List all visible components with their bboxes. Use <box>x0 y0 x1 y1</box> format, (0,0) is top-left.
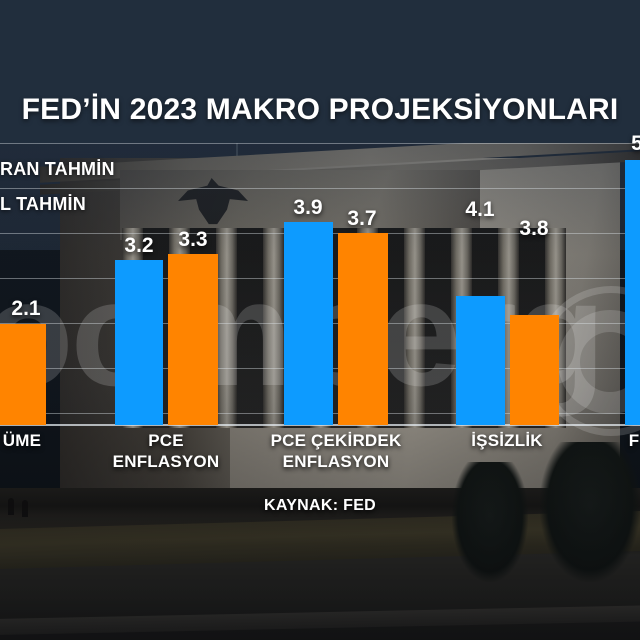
bar-pce-eylul[interactable] <box>168 254 218 425</box>
bar-value-label-buyume-eylul: 2.1 <box>0 297 52 321</box>
bar-issizlik-eylul[interactable] <box>510 315 559 425</box>
bar-value-label-issizlik-haziran: 4.1 <box>454 198 506 222</box>
cat-pce-enflasyon: PCEENFLASYON <box>106 430 226 472</box>
bar-plot-area: 2.13.23.33.93.74.13.85 <box>0 0 640 425</box>
cat-buyume: ÜME <box>0 430 52 451</box>
bar-pce-cekirdek-haziran[interactable] <box>284 222 333 425</box>
chart-panel: oomberg FED’İN 2023 MAKRO PROJEKSİYONLAR… <box>0 0 640 425</box>
bar-value-label-fed-faizi-haziran: 5 <box>624 132 640 156</box>
bar-value-label-issizlik-eylul: 3.8 <box>508 217 560 241</box>
category-axis-labels: ÜMEPCEENFLASYONPCE ÇEKİRDEKENFLASYONİŞSİ… <box>0 430 640 496</box>
cat-issizlik: İŞSİZLİK <box>448 430 566 451</box>
bar-pce-haziran[interactable] <box>115 260 163 425</box>
bar-value-label-pce-haziran: 3.2 <box>113 234 165 258</box>
bar-fed-faizi-haziran[interactable] <box>625 160 640 425</box>
bar-value-label-pce-eylul: 3.3 <box>167 228 219 252</box>
infographic-stage: oomberg FED’İN 2023 MAKRO PROJEKSİYONLAR… <box>0 0 640 640</box>
cat-pce-cekirdek: PCE ÇEKİRDEKENFLASYON <box>262 430 410 472</box>
cat-fed-faizi: F <box>614 430 640 451</box>
source-note: KAYNAK: FED <box>0 497 640 515</box>
bar-pce-cekirdek-eylul[interactable] <box>338 233 388 425</box>
bar-buyume-eylul[interactable] <box>0 324 46 425</box>
bar-issizlik-haziran[interactable] <box>456 296 505 425</box>
bar-value-label-pce-cekirdek-haziran: 3.9 <box>282 196 334 220</box>
bar-value-label-pce-cekirdek-eylul: 3.7 <box>336 207 388 231</box>
